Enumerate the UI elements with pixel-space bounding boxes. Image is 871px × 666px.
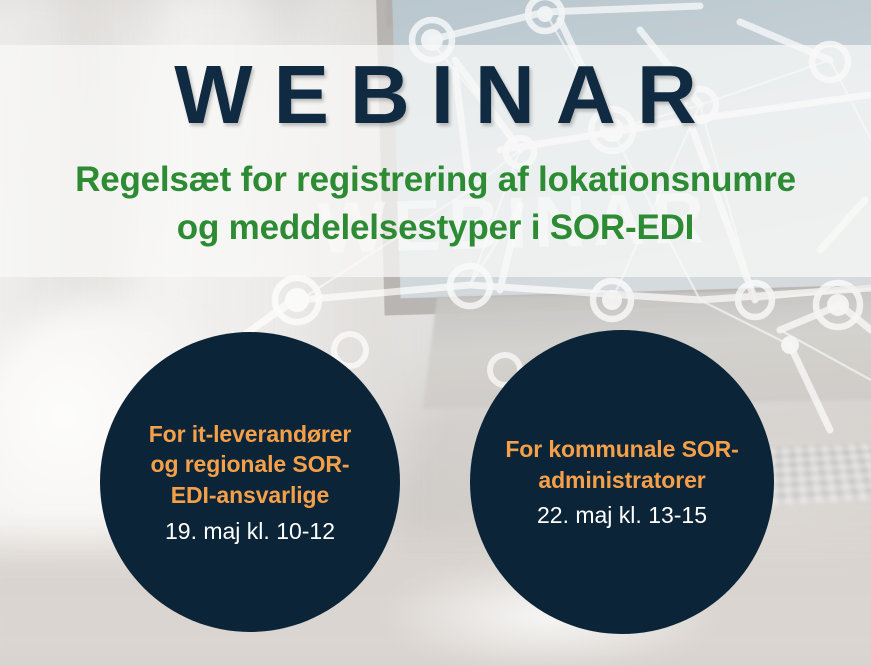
page-title: WEBINAR <box>0 53 871 136</box>
subtitle-line-1: Regelsæt for registrering af lokationsnu… <box>0 156 871 204</box>
audience-date-left: 19. maj kl. 10-12 <box>165 518 335 546</box>
audience-circle-right[interactable]: For kommunale SOR- administratorer 22. m… <box>470 330 774 634</box>
headline-group: WEBINAR Regelsæt for registrering af lok… <box>0 45 871 253</box>
audience-heading-line: og regionale SOR- <box>149 449 352 480</box>
page-subtitle: Regelsæt for registrering af lokationsnu… <box>0 156 871 253</box>
audience-date-right: 22. maj kl. 13-15 <box>537 502 707 530</box>
audience-heading-line: For kommunale SOR- <box>505 434 738 465</box>
subtitle-line-2: og meddelelsestyper i SOR-EDI <box>0 204 871 252</box>
audience-circle-left[interactable]: For it-leverandører og regionale SOR- ED… <box>100 332 400 632</box>
webinar-poster: WEBINAR <box>0 0 871 666</box>
audience-heading-line: EDI-ansvarlige <box>149 480 352 511</box>
audience-heading-left: For it-leverandører og regionale SOR- ED… <box>149 419 352 511</box>
audience-heading-right: For kommunale SOR- administratorer <box>505 434 738 495</box>
audience-heading-line: For it-leverandører <box>149 419 352 450</box>
audience-heading-line: administratorer <box>505 465 738 496</box>
